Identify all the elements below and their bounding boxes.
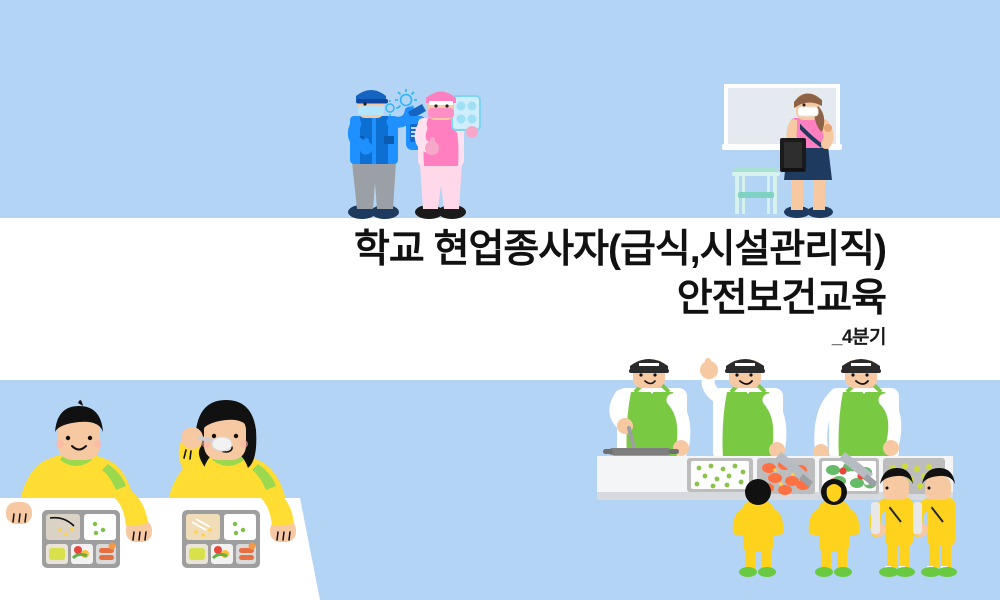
meal-tray <box>871 502 880 534</box>
worker-cap <box>356 90 386 100</box>
student-figure <box>168 400 286 500</box>
teacher-face-mask <box>798 107 818 116</box>
meal-tray <box>913 502 922 534</box>
tray-rice <box>224 514 256 540</box>
lunch-tray <box>42 510 120 568</box>
lunch-tray <box>182 510 260 568</box>
kitchen-staff-figure <box>700 358 785 460</box>
disinfectant-pack-icon <box>452 96 480 130</box>
student-arm <box>849 508 859 536</box>
staff-hand <box>883 440 899 456</box>
clipboard-icon <box>780 138 806 172</box>
pen-icon <box>797 120 800 136</box>
facility-worker-figure <box>348 90 410 219</box>
kitchen-staff-figure <box>616 359 689 460</box>
student-shoe <box>758 567 776 577</box>
tray-rice <box>84 514 116 540</box>
teacher-leg <box>791 176 803 210</box>
worker-hand <box>466 126 478 138</box>
page-subtitle: _4분기 <box>0 323 886 353</box>
student-shoe <box>895 567 915 577</box>
page-title-line-1: 학교 현업종사자(급식,시설관리직) <box>0 225 886 274</box>
student-shoe <box>815 567 833 577</box>
presentation-slide: 학교 현업종사자(급식,시설관리직) 안전보건교육 _4분기 <box>0 0 1000 600</box>
student-head <box>745 479 771 505</box>
student-tracksuit <box>819 502 849 552</box>
teacher-illustration <box>712 80 857 220</box>
student-arm <box>773 508 783 536</box>
page-title-line-2: 안전보건교육 <box>0 274 886 323</box>
worker-cap-brim <box>356 99 388 104</box>
cafeteria-serving-illustration <box>595 352 955 600</box>
worker-face-mask <box>358 106 384 115</box>
student-hand <box>6 502 32 524</box>
student-shoe <box>834 567 852 577</box>
student-arm <box>733 508 743 536</box>
classroom-desk <box>732 168 780 214</box>
student-tracksuit <box>743 502 773 552</box>
student-shoe <box>937 567 957 577</box>
germ-icon <box>395 89 417 111</box>
students-lunch-illustration <box>0 372 340 600</box>
student-figure <box>20 400 134 500</box>
teacher-leg <box>813 176 825 210</box>
sanitation-workers-illustration <box>330 78 500 220</box>
kitchen-staff-figure <box>813 359 899 460</box>
slide-title-block: 학교 현업종사자(급식,시설관리직) 안전보건교육 _4분기 <box>0 225 886 353</box>
food-tray-rice-with-peas <box>687 458 753 492</box>
student-shoe <box>739 567 757 577</box>
vaccination-patch <box>824 124 832 132</box>
worker-pants <box>420 164 462 209</box>
worker-pants <box>352 162 396 209</box>
student-arm <box>809 508 819 536</box>
worker-face-mask <box>428 108 454 118</box>
